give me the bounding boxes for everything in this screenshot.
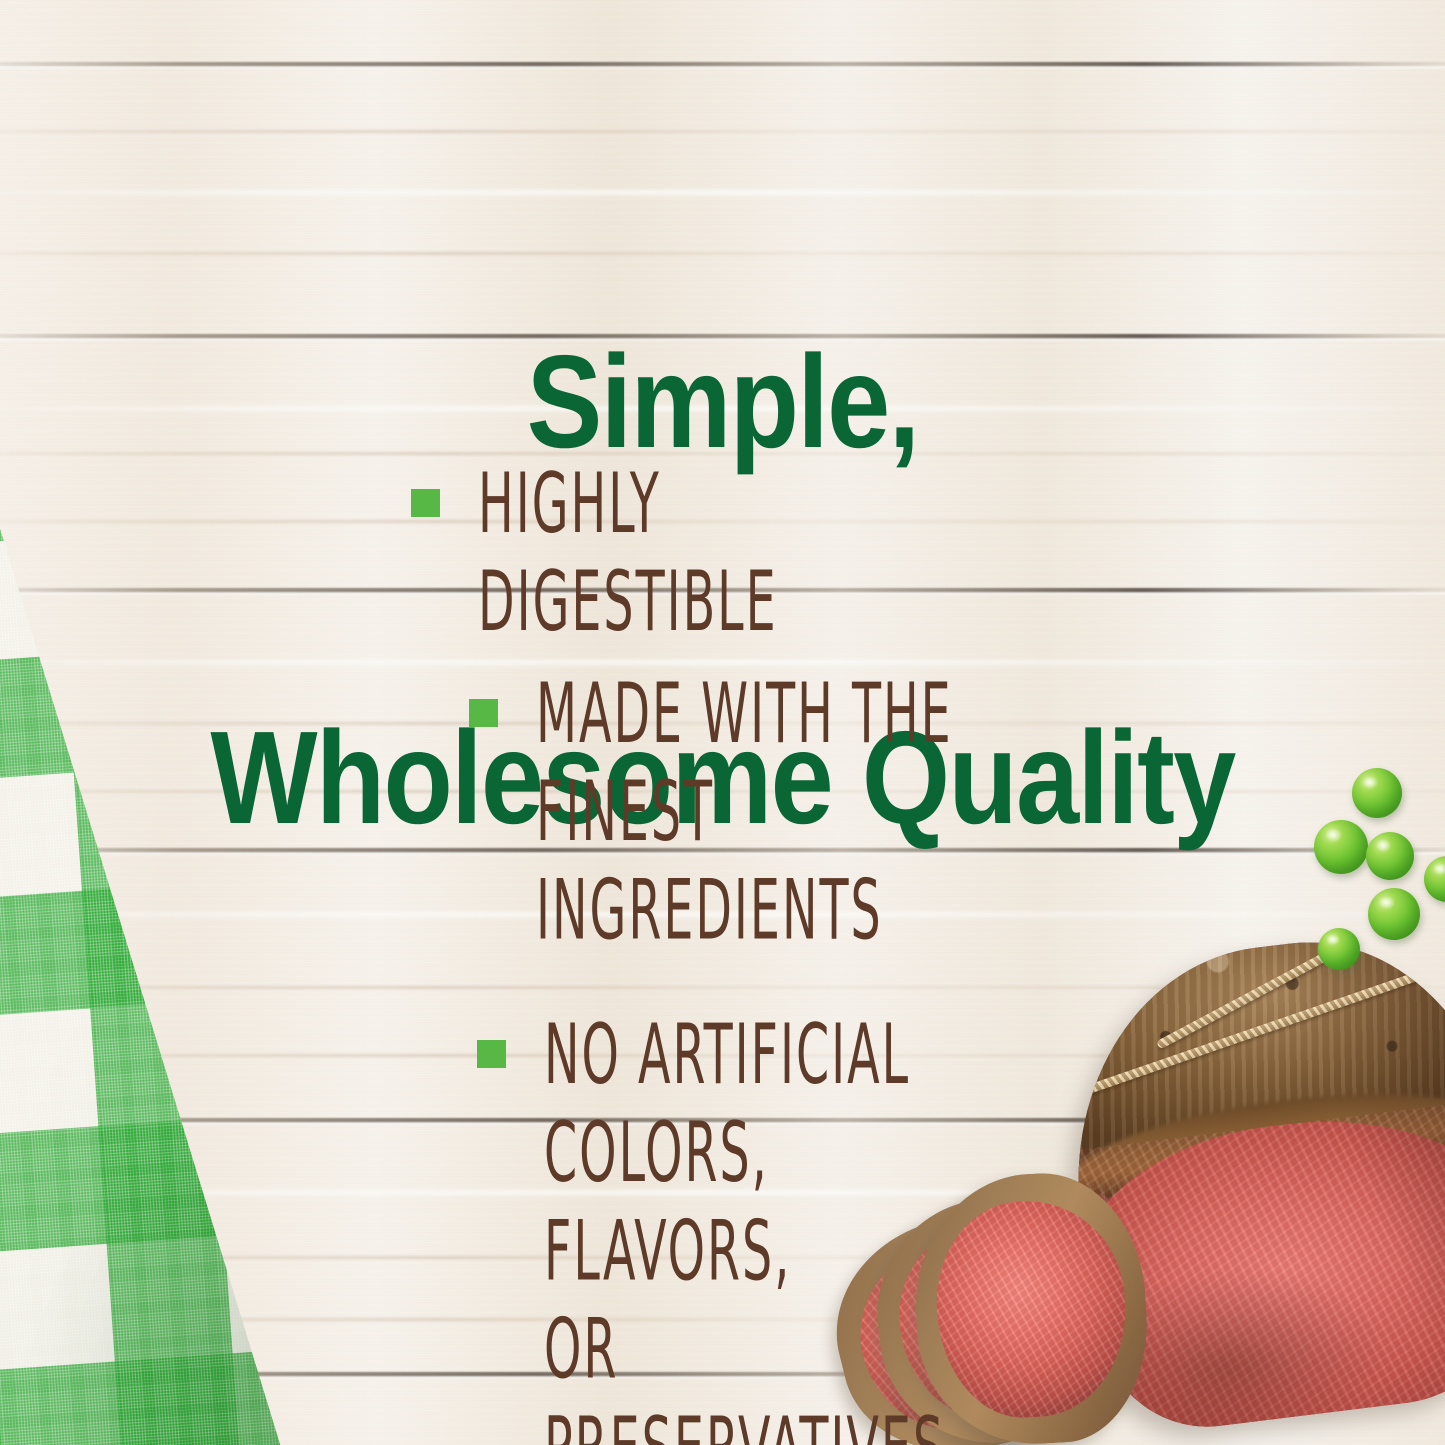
green-square-bullet-icon (411, 489, 440, 517)
list-item: Made with the finest ingredients (400, 665, 1100, 899)
list-item-label: No artificial colors, flavors, or preser… (544, 1006, 989, 1445)
pea-icon (1314, 820, 1368, 874)
green-square-bullet-icon (469, 699, 498, 727)
pea-icon (1352, 768, 1402, 818)
list-item-label: Highly Digestible (478, 455, 976, 651)
list-item: Highly Digestible (400, 455, 1100, 611)
feature-bullet-list: Highly Digestible Made with the finest i… (400, 455, 1100, 1440)
pea-icon (1366, 832, 1414, 880)
list-item-label: Made with the finest ingredients (536, 665, 987, 959)
headline-line-1: Simple, (101, 339, 1344, 464)
pea-icon (1318, 928, 1360, 970)
green-square-bullet-icon (477, 1040, 506, 1068)
list-item: No artificial colors, flavors, or preser… (400, 1006, 1100, 1395)
pea-icon (1368, 888, 1420, 940)
plank-seam (0, 62, 1445, 67)
marketing-banner: Simple, Wholesome Quality Highly Digesti… (0, 0, 1445, 1445)
